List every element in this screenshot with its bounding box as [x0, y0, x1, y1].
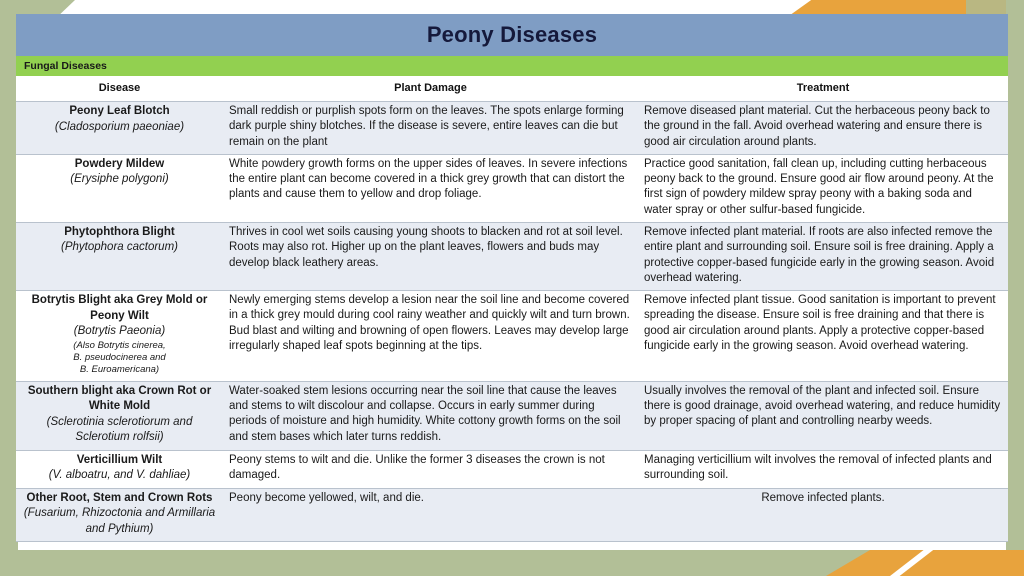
cell-plant-damage: Peony become yellowed, wilt, and die.: [223, 488, 638, 542]
disease-scientific-name: (Botrytis Paeonia): [22, 324, 217, 340]
column-header-treatment: Treatment: [638, 76, 1008, 102]
cell-treatment: Remove diseased plant material. Cut the …: [638, 102, 1008, 155]
column-header-disease: Disease: [16, 76, 223, 102]
section-label: Fungal Diseases: [24, 60, 107, 72]
disease-scientific-name: (Phytophora cactorum): [22, 240, 217, 256]
cell-disease: Other Root, Stem and Crown Rots(Fusarium…: [16, 488, 223, 542]
cell-plant-damage: Thrives in cool wet soils causing young …: [223, 222, 638, 290]
cell-disease: Southern blight aka Crown Rot or White M…: [16, 381, 223, 450]
cell-disease: Phytophthora Blight(Phytophora cactorum): [16, 222, 223, 290]
disease-name: Other Root, Stem and Crown Rots: [22, 491, 217, 507]
cell-plant-damage: Water-soaked stem lesions occurring near…: [223, 381, 638, 450]
cell-treatment: Remove infected plants.: [638, 488, 1008, 542]
table-row: Phytophthora Blight(Phytophora cactorum)…: [16, 222, 1008, 290]
decor-right-sage-band: [1006, 0, 1024, 576]
table-row: Peony Leaf Blotch(Cladosporium paeoniae)…: [16, 102, 1008, 155]
disease-scientific-name: (Cladosporium paeoniae): [22, 120, 217, 136]
table-row: Southern blight aka Crown Rot or White M…: [16, 381, 1008, 450]
disease-scientific-name: (Erysiphe polygoni): [22, 172, 217, 188]
cell-treatment: Remove infected plant material. If roots…: [638, 222, 1008, 290]
table-header-row: Disease Plant Damage Treatment: [16, 76, 1008, 102]
table-head: Disease Plant Damage Treatment: [16, 76, 1008, 102]
cell-plant-damage: White powdery growth forms on the upper …: [223, 154, 638, 222]
cell-disease: Botrytis Blight aka Grey Mold or Peony W…: [16, 291, 223, 382]
disease-extra-name: (Also Botrytis cinerea,: [22, 340, 217, 352]
disease-scientific-name: (Fusarium, Rhizoctonia and Armillaria an…: [22, 506, 217, 537]
disease-name: Southern blight aka Crown Rot or White M…: [22, 384, 217, 415]
table-body: Peony Leaf Blotch(Cladosporium paeoniae)…: [16, 102, 1008, 542]
cell-disease: Peony Leaf Blotch(Cladosporium paeoniae): [16, 102, 223, 155]
table-row: Powdery Mildew(Erysiphe polygoni)White p…: [16, 154, 1008, 222]
cell-plant-damage: Small reddish or purplish spots form on …: [223, 102, 638, 155]
cell-disease: Powdery Mildew(Erysiphe polygoni): [16, 154, 223, 222]
column-header-damage: Plant Damage: [223, 76, 638, 102]
cell-disease: Verticillium Wilt(V. alboatru, and V. da…: [16, 450, 223, 488]
disease-name: Botrytis Blight aka Grey Mold or Peony W…: [22, 293, 217, 324]
disease-name: Peony Leaf Blotch: [22, 104, 217, 120]
cell-treatment: Usually involves the removal of the plan…: [638, 381, 1008, 450]
slide-content: Peony Diseases Fungal Diseases Disease P…: [16, 14, 1008, 542]
section-header-band: Fungal Diseases: [16, 56, 1008, 76]
slide-title-band: Peony Diseases: [16, 14, 1008, 56]
cell-plant-damage: Newly emerging stems develop a lesion ne…: [223, 291, 638, 382]
disease-name: Phytophthora Blight: [22, 225, 217, 241]
cell-treatment: Practice good sanitation, fall clean up,…: [638, 154, 1008, 222]
page-title: Peony Diseases: [427, 22, 597, 48]
disease-table: Disease Plant Damage Treatment Peony Lea…: [16, 76, 1008, 542]
disease-name: Verticillium Wilt: [22, 453, 217, 469]
cell-plant-damage: Peony stems to wilt and die. Unlike the …: [223, 450, 638, 488]
disease-scientific-name: (Sclerotinia sclerotiorum and Sclerotium…: [22, 415, 217, 446]
cell-treatment: Remove infected plant tissue. Good sanit…: [638, 291, 1008, 382]
disease-extra-name: B. pseudocinerea and: [22, 352, 217, 364]
table-row: Other Root, Stem and Crown Rots(Fusarium…: [16, 488, 1008, 542]
table-row: Botrytis Blight aka Grey Mold or Peony W…: [16, 291, 1008, 382]
disease-extra-name: B. Euroamericana): [22, 364, 217, 376]
cell-treatment: Managing verticillium wilt involves the …: [638, 450, 1008, 488]
disease-scientific-name: (V. alboatru, and V. dahliae): [22, 468, 217, 484]
disease-name: Powdery Mildew: [22, 157, 217, 173]
table-row: Verticillium Wilt(V. alboatru, and V. da…: [16, 450, 1008, 488]
